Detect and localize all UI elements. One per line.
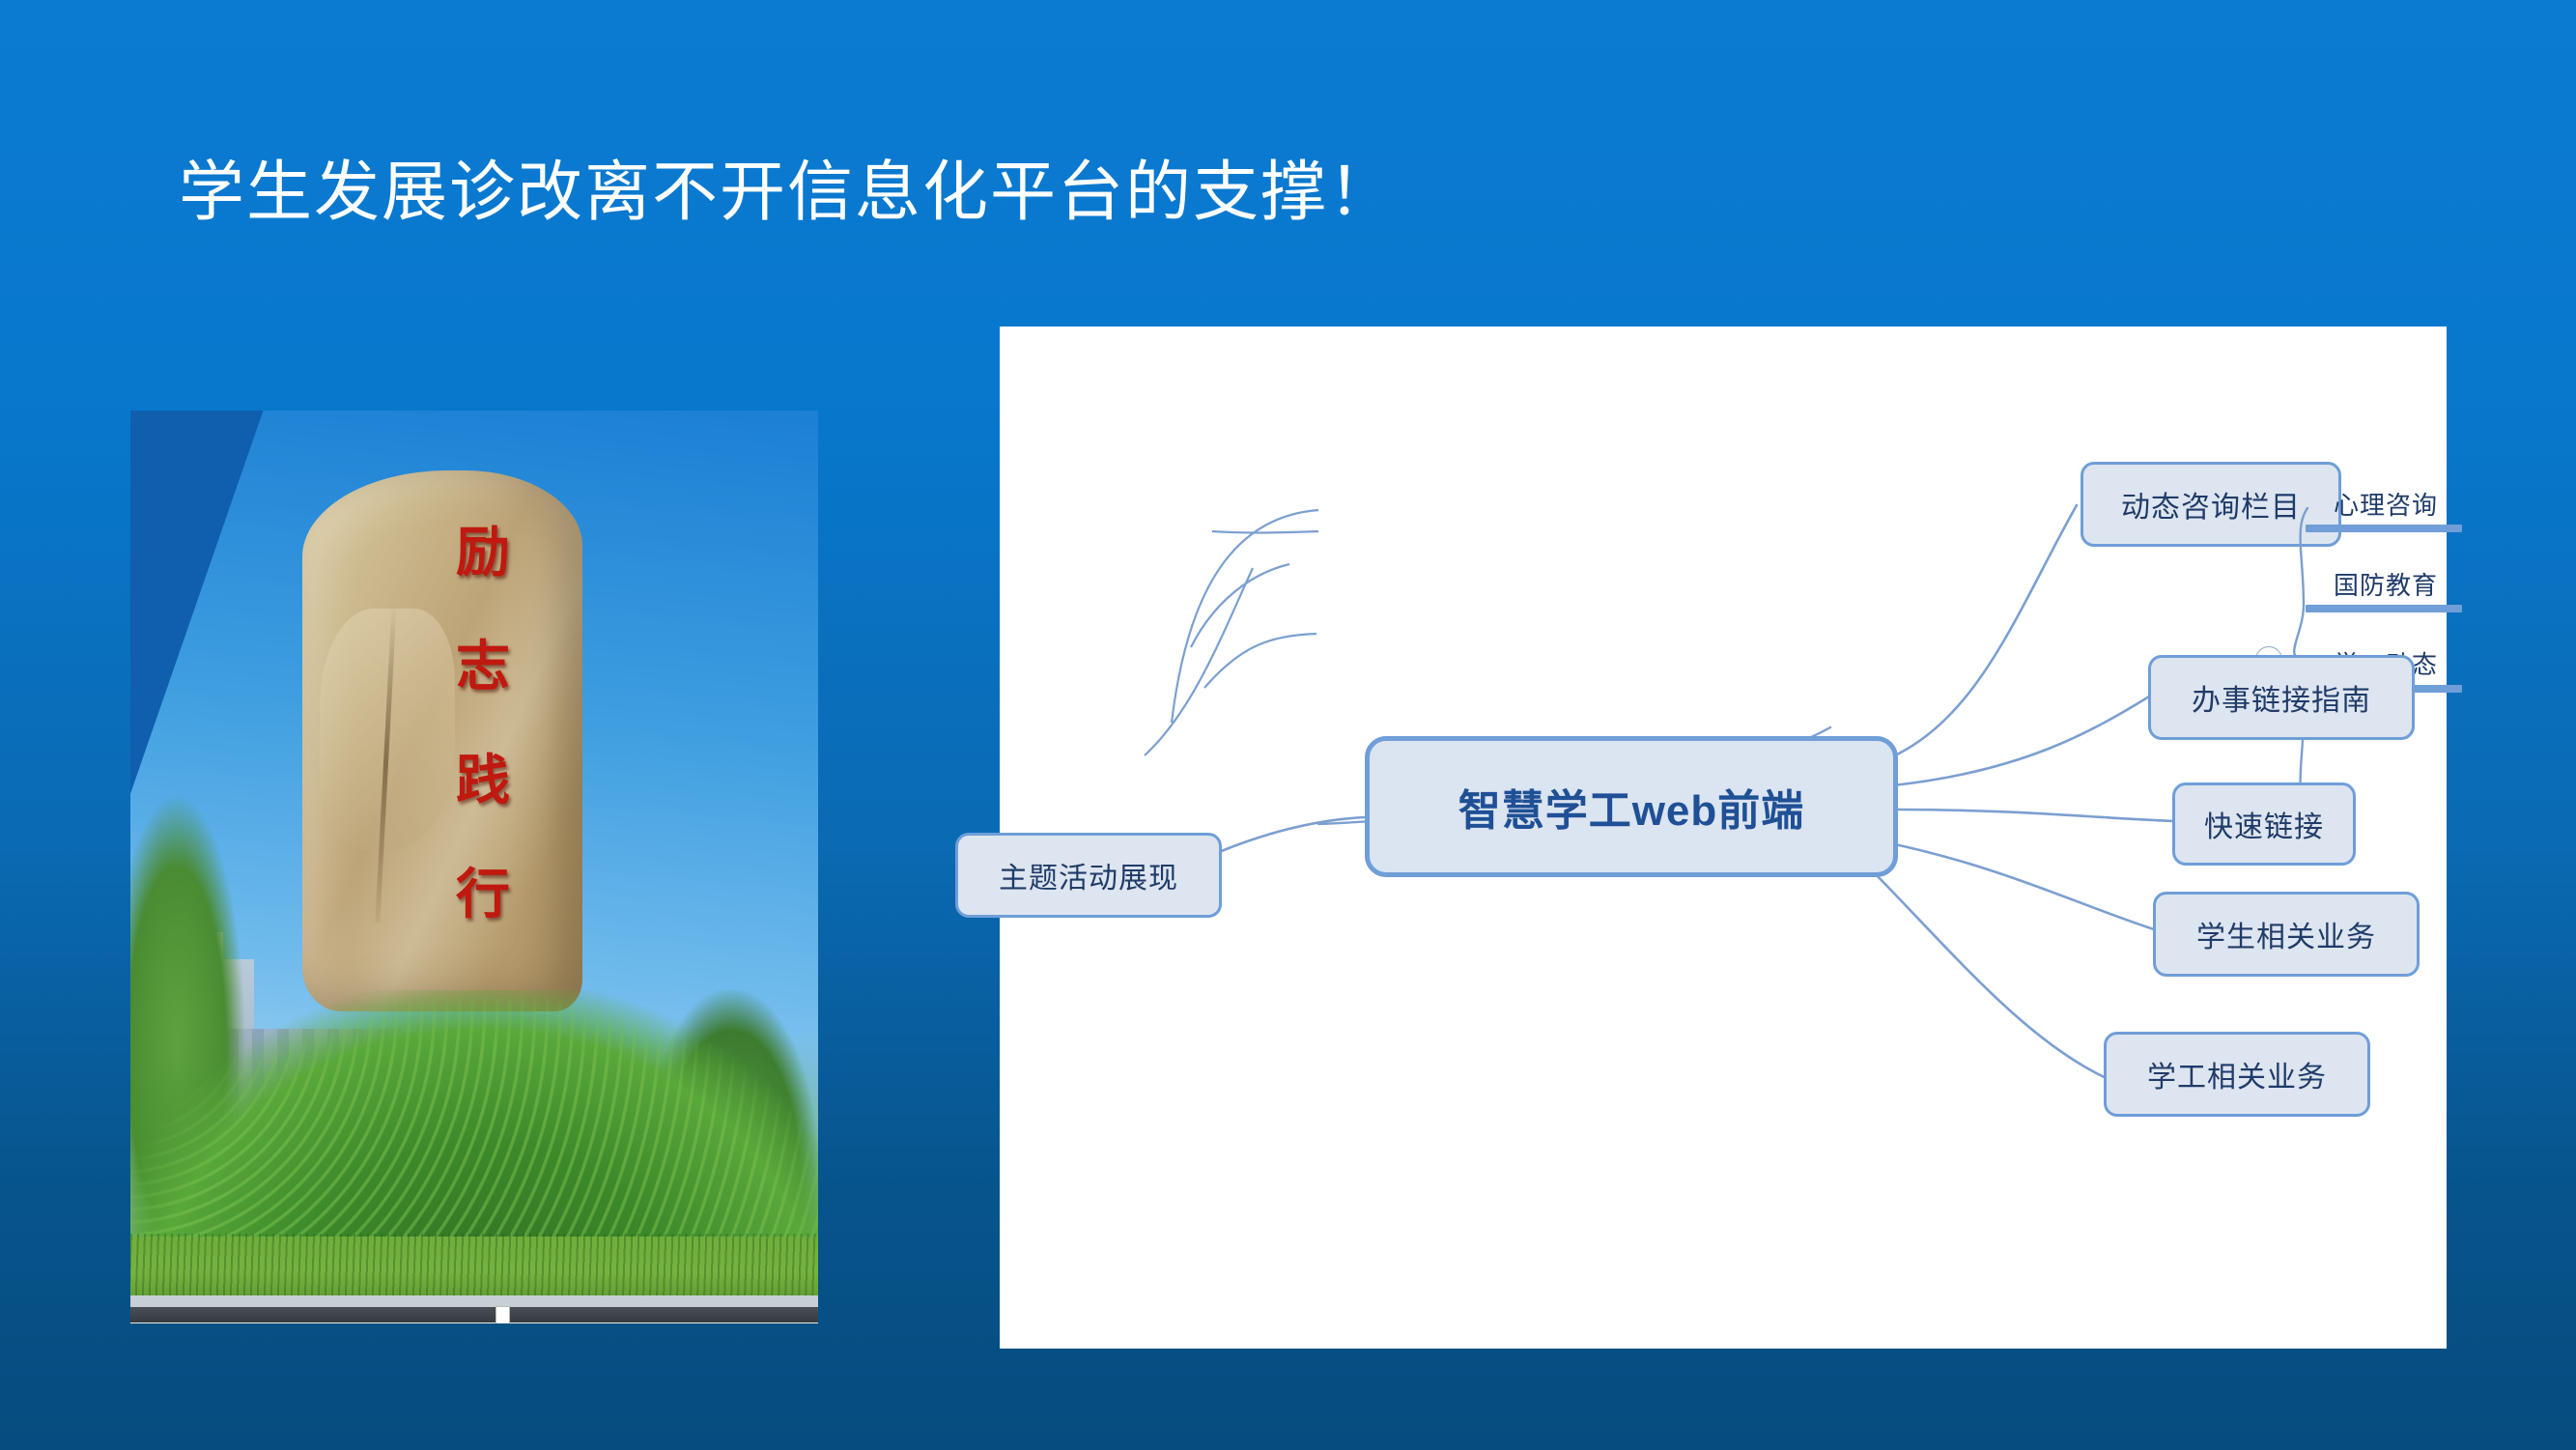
mindmap-node-affairs-business[interactable]: 学工相关业务	[2104, 1032, 2370, 1117]
mindmap-node-student-business[interactable]: 学生相关业务	[2153, 892, 2420, 977]
photo-marker	[495, 1306, 510, 1323]
photo-pavement-bottom	[130, 1322, 818, 1323]
mindmap-leaf-bar-2	[2306, 605, 2462, 612]
slide-canvas: 学生发展诊改离不开信息化平台的支撑！ 励志践行	[0, 0, 2576, 1450]
photo-engraved-text: 励志践行	[430, 496, 536, 952]
mindmap-node-theme-activity[interactable]: 主题活动展现	[955, 833, 1222, 918]
mindmap-panel: 智慧学工web前端 动态咨询栏目 心理咨询 国防教育 学工动态 办事链接指南 快…	[1000, 327, 2447, 1349]
mindmap-leaf-psych-counseling[interactable]: 心理咨询	[2304, 486, 2468, 522]
mindmap-leaf-bar-1	[2306, 525, 2462, 532]
photo-pavement-dark	[130, 1307, 818, 1323]
campus-photo: 励志践行	[130, 411, 818, 1323]
page-title: 学生发展诊改离不开信息化平台的支撑！	[179, 153, 1396, 232]
mindmap-node-service-guide[interactable]: 办事链接指南	[2148, 655, 2415, 740]
mindmap-node-quick-links[interactable]: 快速链接	[2172, 782, 2356, 866]
mindmap-leaf-defense-education[interactable]: 国防教育	[2304, 566, 2468, 602]
mindmap-center-node[interactable]: 智慧学工web前端	[1365, 736, 1898, 877]
